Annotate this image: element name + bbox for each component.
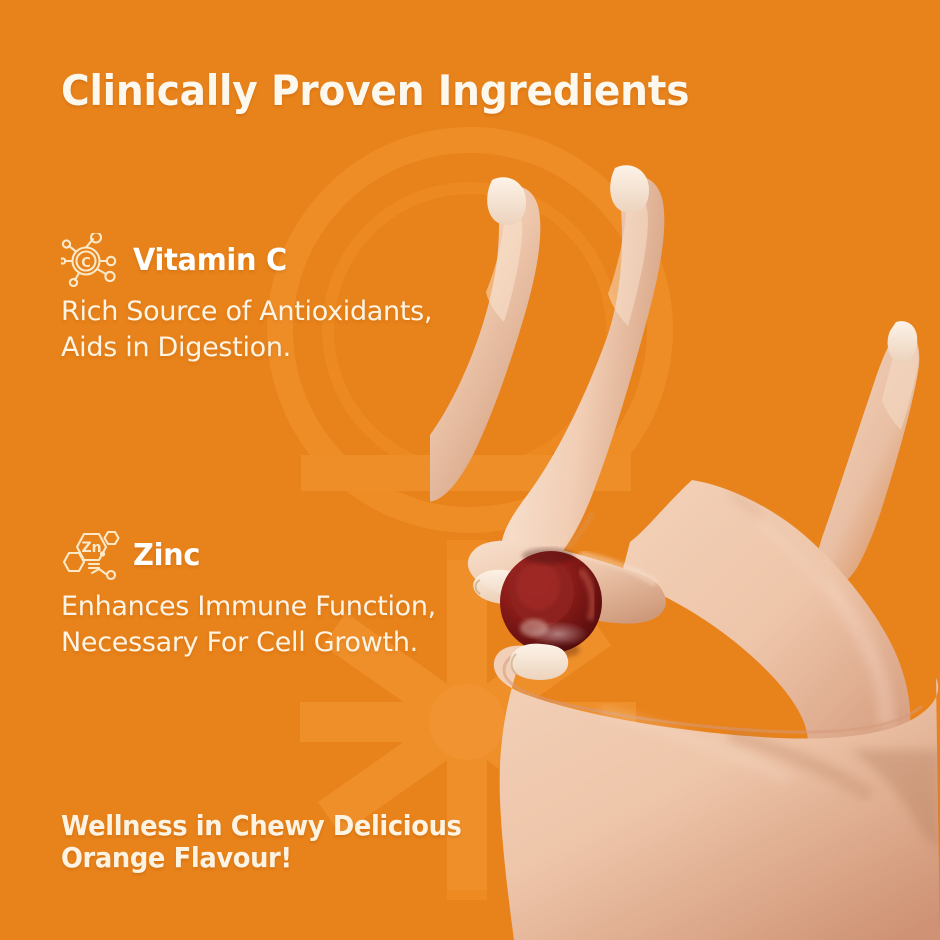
zinc-molecule-icon: Zn <box>61 528 123 582</box>
tagline-line-2: Orange Flavour! <box>61 842 462 874</box>
vitamin-c-molecule-icon: C <box>61 233 123 287</box>
ingredient-description: Enhances Immune Function, Necessary For … <box>61 589 461 661</box>
index-finger-upper <box>430 177 540 501</box>
tagline: Wellness in Chewy Delicious Orange Flavo… <box>61 810 462 875</box>
ingredient-description: Rich Source of Antioxidants, Aids in Dig… <box>61 294 461 366</box>
ingredient-block-vitamin-c: C Vitamin C Rich Source of Antioxidants,… <box>61 232 461 366</box>
ingredient-name: Zinc <box>133 538 200 573</box>
ingredient-header: Zn Zinc <box>61 527 461 583</box>
poster-canvas: Clinically Proven Ingredients <box>0 0 940 940</box>
ingredient-block-zinc: Zn Zinc Enhances Immune Function, Necess… <box>61 527 461 661</box>
tagline-line-1: Wellness in Chewy Delicious <box>61 809 462 842</box>
ingredient-header: C Vitamin C <box>61 232 461 288</box>
svg-text:C: C <box>81 256 91 271</box>
svg-text:Zn: Zn <box>81 540 101 556</box>
hand-holding-gummy-image <box>430 150 940 940</box>
page-title: Clinically Proven Ingredients <box>61 66 689 115</box>
ring-finger <box>816 321 919 586</box>
ingredient-name: Vitamin C <box>133 243 287 278</box>
